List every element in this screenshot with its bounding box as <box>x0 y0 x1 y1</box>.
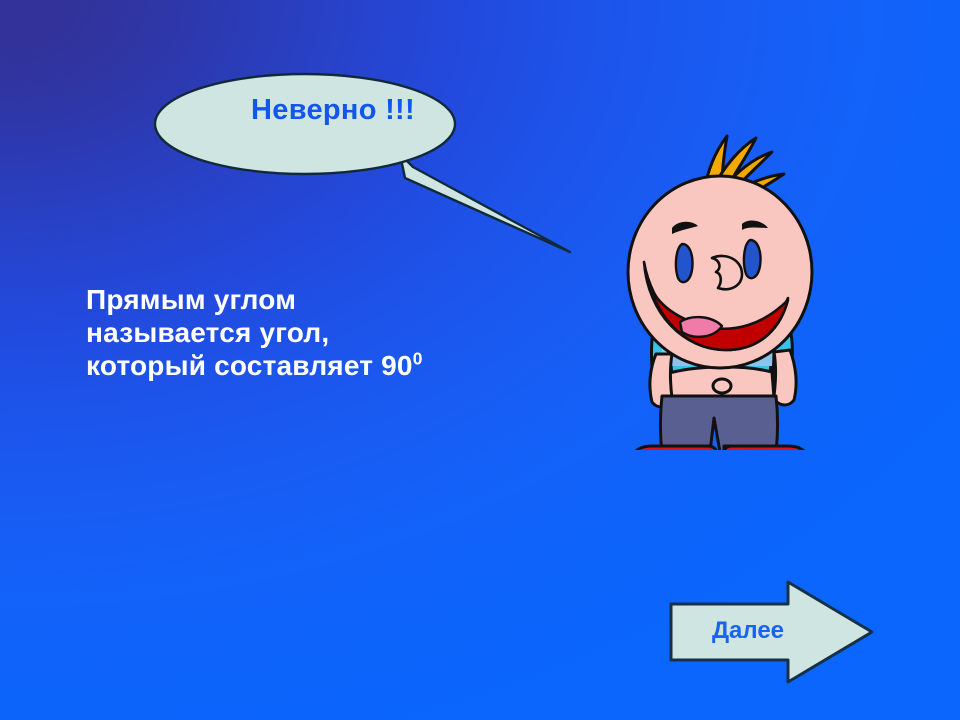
bubble-tail <box>400 154 570 252</box>
degree-symbol: 0 <box>413 349 423 369</box>
statement-line-3-text: который составляет 90 <box>86 350 413 381</box>
left-eye <box>676 244 693 282</box>
statement-line-1: Прямым углом <box>86 283 423 316</box>
statement-text: Прямым углом называется угол, который со… <box>86 283 423 382</box>
slide-canvas: Неверно !!! Прямым углом называется угол… <box>0 0 960 720</box>
cartoon-boy-illustration <box>600 110 840 450</box>
arrow-shape[interactable] <box>671 582 872 682</box>
left-shoe <box>632 446 719 450</box>
shorts <box>661 396 778 450</box>
right-eye <box>744 240 761 278</box>
next-arrow-button[interactable]: Далее <box>668 578 876 686</box>
statement-line-3: который составляет 900 <box>86 349 423 382</box>
arrow-right-icon[interactable] <box>668 578 876 686</box>
statement-line-2: называется угол, <box>86 316 423 349</box>
right-shoe <box>721 446 808 450</box>
incorrect-feedback-bubble: Неверно !!! <box>150 66 580 266</box>
navel <box>713 379 731 393</box>
cartoon-boy <box>600 110 840 450</box>
feedback-text: Неверно !!! <box>213 94 453 127</box>
